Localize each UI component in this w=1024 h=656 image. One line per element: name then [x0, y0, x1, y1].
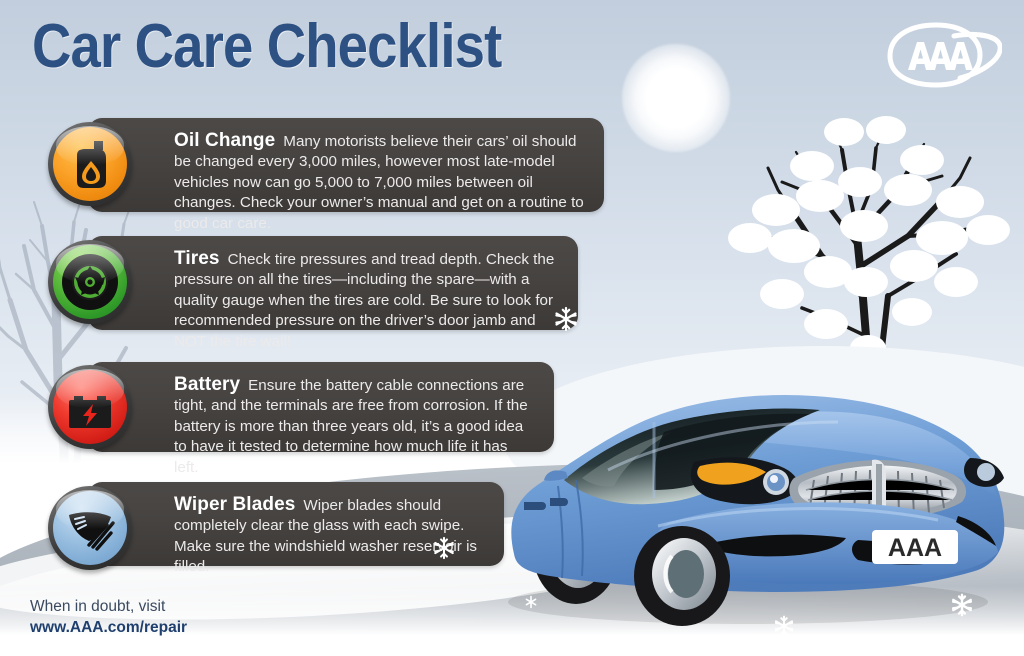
panel-tires[interactable]: TiresCheck tire pressures and tread dept… — [88, 236, 578, 330]
wiper-blade-icon — [53, 491, 127, 565]
footer: When in doubt, visit www.AAA.com/repair — [30, 596, 187, 638]
oil-bottle-icon — [53, 127, 127, 201]
snowflake-icon — [950, 593, 974, 617]
icon-wiper-blades[interactable] — [48, 486, 132, 570]
icon-battery[interactable] — [48, 365, 132, 449]
sun-glow-icon — [622, 44, 730, 152]
icon-oil-change[interactable] — [48, 122, 132, 206]
aaa-logo — [884, 20, 1002, 90]
footer-url[interactable]: www.AAA.com/repair — [30, 617, 187, 638]
panel-heading: Battery — [174, 374, 240, 395]
panel-oil-change[interactable]: Oil ChangeMany motorists believe their c… — [88, 118, 604, 212]
snowflake-icon — [524, 595, 538, 609]
panel-heading: Tires — [174, 248, 220, 269]
footer-line-1: When in doubt, visit — [30, 596, 187, 617]
panel-heading: Wiper Blades — [174, 494, 295, 515]
icon-tires[interactable] — [48, 240, 132, 324]
tire-icon — [53, 245, 127, 319]
panel-text: Check tire pressures and tread depth. Ch… — [174, 251, 554, 350]
infographic-poster: AAA Car Care Checklist Oil ChangeMany m — [0, 0, 1024, 656]
snowflake-icon — [553, 306, 579, 332]
snowflake-icon — [773, 615, 795, 637]
page-title: Car Care Checklist — [32, 16, 501, 78]
svg-text:AAA: AAA — [888, 534, 942, 562]
panel-battery[interactable]: BatteryEnsure the battery cable connecti… — [88, 362, 554, 452]
panel-heading: Oil Change — [174, 130, 275, 151]
snowflake-icon — [432, 536, 456, 560]
battery-icon — [53, 370, 127, 444]
